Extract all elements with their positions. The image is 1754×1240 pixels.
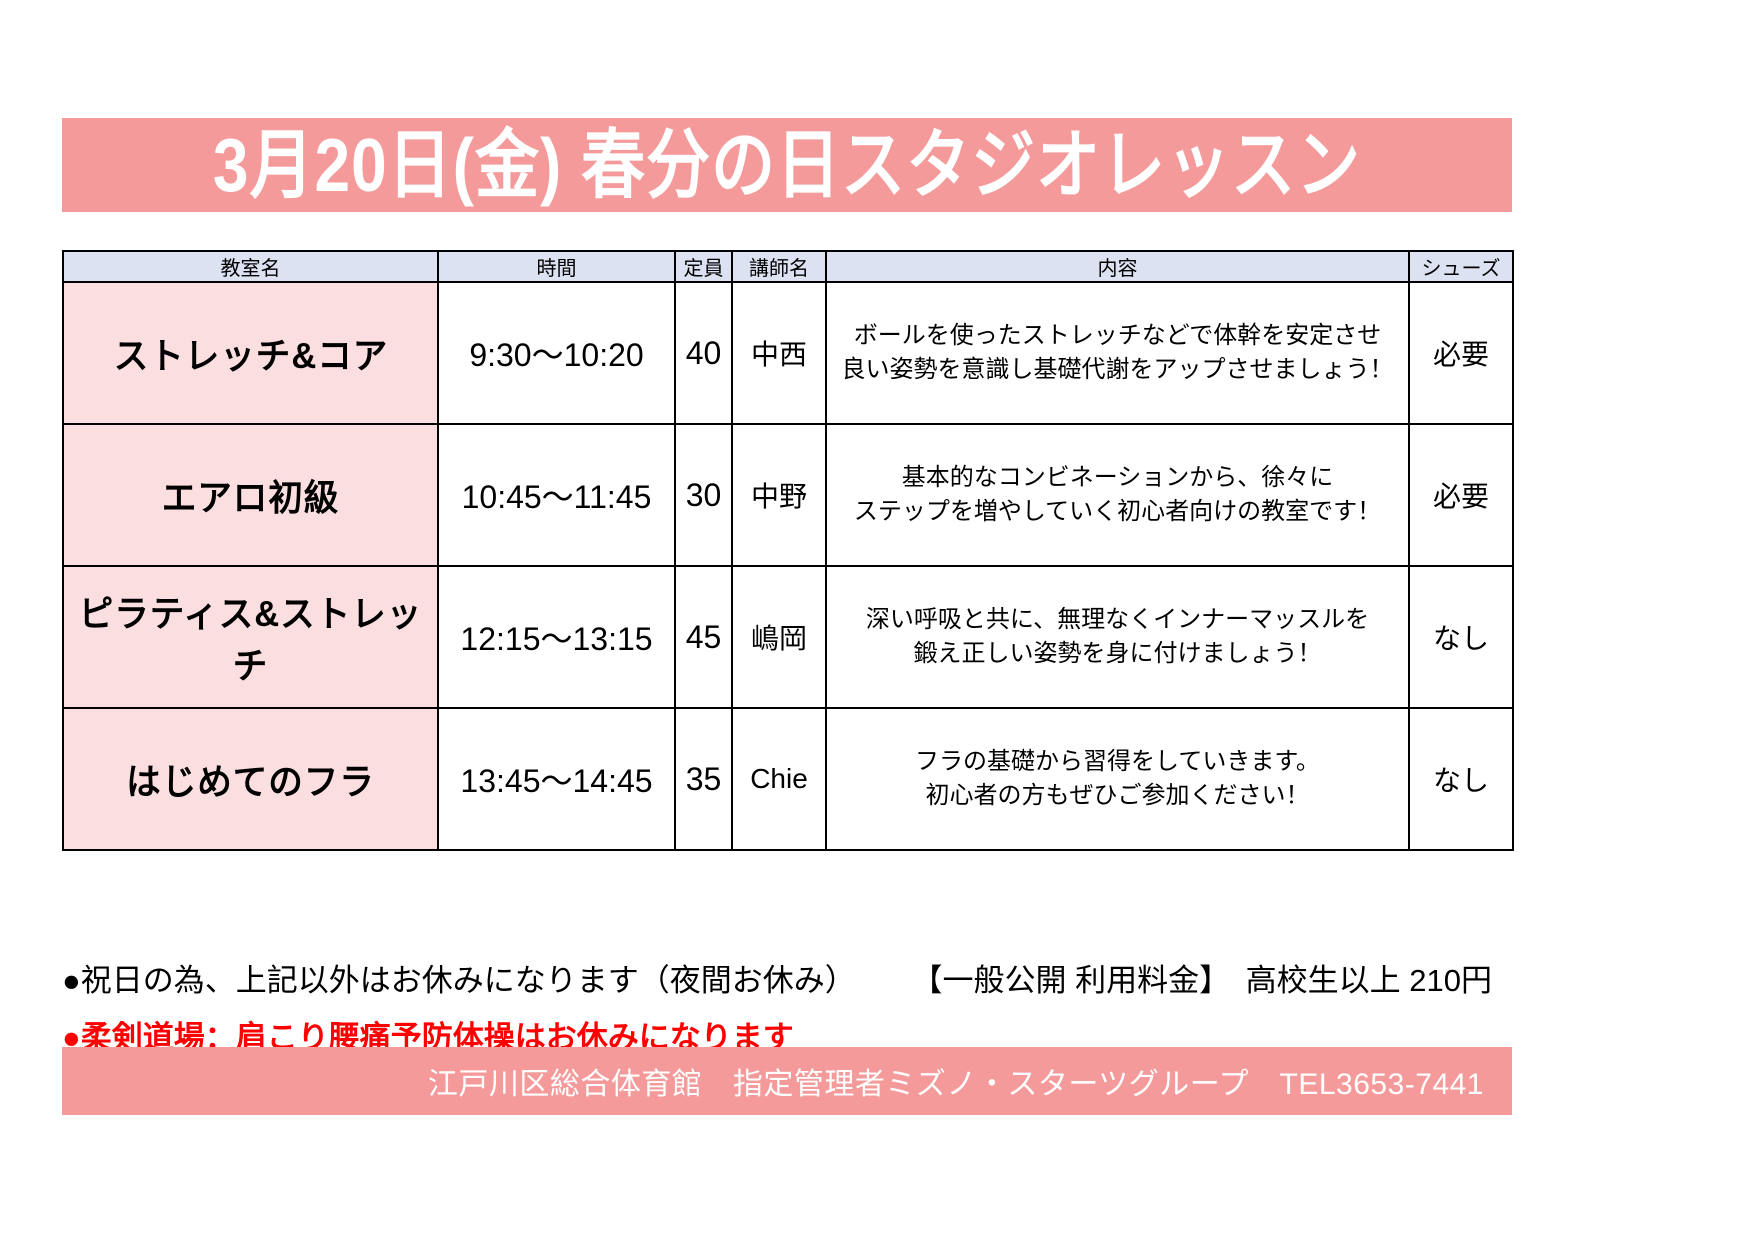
page-title: 3月20日(金) 春分の日スタジオレッスン — [213, 127, 1361, 203]
footer-bar: 江戸川区総合体育館 指定管理者ミズノ・スターツグループ TEL3653-7441 — [62, 1047, 1512, 1115]
cell-instructor: 中西 — [732, 282, 826, 424]
cell-class-name: ストレッチ&コア — [63, 282, 438, 424]
cell-shoes: 必要 — [1409, 282, 1513, 424]
content-line-1: フラの基礎から習得をしていきます。 — [837, 745, 1398, 779]
cell-class-name: ピラティス&ストレッチ — [63, 566, 438, 708]
content-line-2: ステップを増やしていく初心者向けの教室です！ — [837, 495, 1398, 529]
holiday-note-text: 祝日の為、上記以外はお休みになります（夜間お休み） — [81, 963, 856, 998]
table-row: エアロ初級 10:45〜11:45 30 中野 基本的なコンビネーションから、徐… — [63, 424, 1513, 566]
cell-time: 9:30〜10:20 — [438, 282, 675, 424]
cell-content: 深い呼吸と共に、無理なくインナーマッスルを 鍛え正しい姿勢を身に付けましょう！ — [826, 566, 1409, 708]
cell-instructor: 嶋岡 — [732, 566, 826, 708]
holiday-note: ●祝日の為、上記以外はお休みになります（夜間お休み） — [62, 955, 856, 1000]
cell-capacity: 30 — [675, 424, 732, 566]
bullet-icon: ● — [62, 963, 81, 998]
cell-content: 基本的なコンビネーションから、徐々に ステップを増やしていく初心者向けの教室です… — [826, 424, 1409, 566]
class-name-text: ストレッチ&コア — [113, 327, 388, 379]
cell-instructor: 中野 — [732, 424, 826, 566]
header-time: 時間 — [438, 251, 675, 282]
cell-content: フラの基礎から習得をしていきます。 初心者の方もぜひご参加ください！ — [826, 708, 1409, 850]
content-line-1: 深い呼吸と共に、無理なくインナーマッスルを — [837, 603, 1398, 637]
header-shoes: シューズ — [1409, 251, 1513, 282]
table-row: はじめてのフラ 13:45〜14:45 35 Chie フラの基礎から習得をして… — [63, 708, 1513, 850]
lesson-schedule-table: 教室名 時間 定員 講師名 内容 シューズ ストレッチ&コア 9:30〜10:2… — [62, 250, 1514, 851]
content-line-2: 鍛え正しい姿勢を身に付けましょう！ — [837, 637, 1398, 671]
price-note: 【一般公開 利用料金】 高校生以上 210円 — [912, 955, 1512, 1000]
cell-time: 13:45〜14:45 — [438, 708, 675, 850]
notes-section: ●祝日の為、上記以外はお休みになります（夜間お休み） 【一般公開 利用料金】 高… — [62, 955, 1512, 1057]
header-content: 内容 — [826, 251, 1409, 282]
content-line-1: ボールを使ったストレッチなどで体幹を安定させ — [837, 319, 1398, 353]
class-name-text: エアロ初級 — [162, 469, 340, 521]
cell-time: 12:15〜13:15 — [438, 566, 675, 708]
cell-time: 10:45〜11:45 — [438, 424, 675, 566]
notes-top-row: ●祝日の為、上記以外はお休みになります（夜間お休み） 【一般公開 利用料金】 高… — [62, 955, 1512, 1000]
header-class-name: 教室名 — [63, 251, 438, 282]
cell-shoes: なし — [1409, 566, 1513, 708]
cell-shoes: なし — [1409, 708, 1513, 850]
class-name-text: はじめてのフラ — [126, 753, 375, 805]
cell-instructor: Chie — [732, 708, 826, 850]
table-header-row: 教室名 時間 定員 講師名 内容 シューズ — [63, 251, 1513, 282]
class-name-text: ピラティス&ストレッチ — [71, 585, 429, 689]
cell-class-name: はじめてのフラ — [63, 708, 438, 850]
table-row: ストレッチ&コア 9:30〜10:20 40 中西 ボールを使ったストレッチなど… — [63, 282, 1513, 424]
content-line-1: 基本的なコンビネーションから、徐々に — [837, 461, 1398, 495]
cell-shoes: 必要 — [1409, 424, 1513, 566]
cell-class-name: エアロ初級 — [63, 424, 438, 566]
header-capacity: 定員 — [675, 251, 732, 282]
cell-capacity: 45 — [675, 566, 732, 708]
cell-capacity: 40 — [675, 282, 732, 424]
content-line-2: 良い姿勢を意識し基礎代謝をアップさせましょう！ — [837, 353, 1398, 387]
cell-capacity: 35 — [675, 708, 732, 850]
content-line-2: 初心者の方もぜひご参加ください！ — [837, 779, 1398, 813]
poster-page: 3月20日(金) 春分の日スタジオレッスン 教室名 時間 定員 講師名 内容 シ… — [0, 0, 1754, 1240]
table-row: ピラティス&ストレッチ 12:15〜13:15 45 嶋岡 深い呼吸と共に、無理… — [63, 566, 1513, 708]
cell-content: ボールを使ったストレッチなどで体幹を安定させ 良い姿勢を意識し基礎代謝をアップさ… — [826, 282, 1409, 424]
title-banner: 3月20日(金) 春分の日スタジオレッスン — [62, 118, 1512, 212]
header-instructor: 講師名 — [732, 251, 826, 282]
footer-contact-text: 江戸川区総合体育館 指定管理者ミズノ・スターツグループ TEL3653-7441 — [428, 1059, 1512, 1103]
